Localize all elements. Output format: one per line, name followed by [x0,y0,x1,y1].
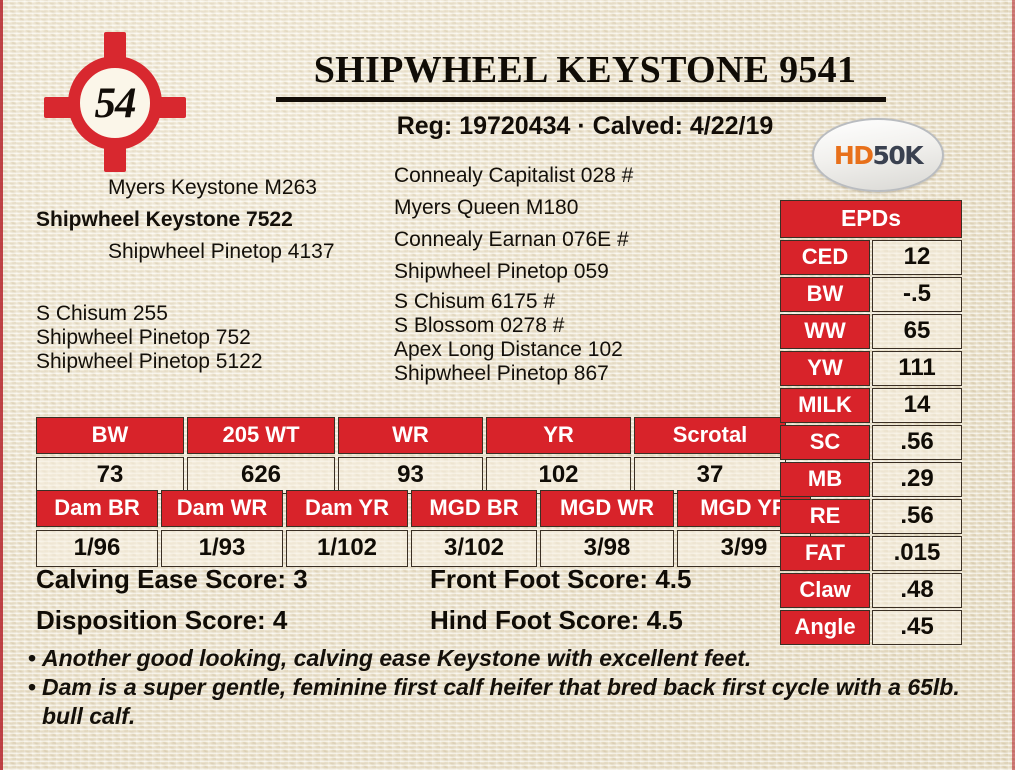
note-text: Another good looking, calving ease Keyst… [42,644,983,673]
epd-row: RE .56 [780,499,962,534]
epd-value: -.5 [872,277,962,312]
pedigree-dam-block: S Chisum 255 Shipwheel Pinetop 752 Shipw… [36,302,386,374]
pedigree-grandparent: S Blossom 0278 # [394,314,774,338]
table-header-cell: Dam BR [36,490,158,527]
table-header-cell: BW [36,417,184,454]
table-header-row: Dam BR Dam WR Dam YR MGD BR MGD WR MGD Y… [36,490,811,527]
epd-row: MILK 14 [780,388,962,423]
page-title: SHIPWHEEL KEYSTONE 9541 [255,48,915,92]
epd-row: Claw .48 [780,573,962,608]
table-header-cell: 205 WT [187,417,335,454]
table-row: 1/96 1/93 1/102 3/102 3/98 3/99 [36,530,811,567]
notes-list: • Another good looking, calving ease Key… [28,644,983,731]
epd-row: YW 111 [780,351,962,386]
epds-table: EPDs CED 12 BW -.5 WW 65 YW 111 MILK 14 … [778,198,964,647]
epd-value: .45 [872,610,962,645]
epd-row: FAT .015 [780,536,962,571]
epds-title: EPDs [780,200,962,238]
epd-label: CED [780,240,870,275]
dam-ratio-table: Dam BR Dam WR Dam YR MGD BR MGD WR MGD Y… [33,487,814,570]
table-header-cell: YR [486,417,631,454]
table-header-cell: Scrotal [634,417,786,454]
table-header-cell: Dam YR [286,490,408,527]
epd-label: YW [780,351,870,386]
bullet-icon: • [28,644,42,673]
epd-label: MILK [780,388,870,423]
pedigree-dam-sire: S Chisum 255 [36,302,386,326]
epd-value: .015 [872,536,962,571]
epd-row: Angle .45 [780,610,962,645]
epd-row: SC .56 [780,425,962,460]
epd-label: WW [780,314,870,349]
table-cell: 1/102 [286,530,408,567]
registration-calved-line: Reg: 19720434 · Calved: 4/22/19 [255,112,915,141]
title-underline [276,97,886,102]
pedigree-sire-block: Myers Keystone M263 Shipwheel Keystone 7… [36,172,386,268]
epd-value: .48 [872,573,962,608]
hd50k-hd-text: HD [834,141,873,170]
epd-row: MB .29 [780,462,962,497]
epd-label: Angle [780,610,870,645]
calving-ease-score: Calving Ease Score: 3 [36,564,308,595]
epd-label: BW [780,277,870,312]
table-header-cell: Dam WR [161,490,283,527]
pedigree-grandparent: S Chisum 6175 # [394,290,774,314]
epd-label: MB [780,462,870,497]
hd50k-50k-text: 50K [873,141,923,170]
pedigree-grandparent: Shipwheel Pinetop 867 [394,362,774,386]
table-cell: 3/98 [540,530,674,567]
epd-value: 12 [872,240,962,275]
epd-value: .56 [872,425,962,460]
epd-label: SC [780,425,870,460]
pedigree-sire-sire: Myers Keystone M263 [36,172,386,204]
table-cell: 1/93 [161,530,283,567]
table-header-cell: MGD WR [540,490,674,527]
front-foot-score: Front Foot Score: 4.5 [430,564,691,595]
table-header-row: BW 205 WT WR YR Scrotal [36,417,786,454]
pedigree-grandparent: Shipwheel Pinetop 059 [394,256,774,288]
epd-value: .29 [872,462,962,497]
epd-value: .56 [872,499,962,534]
pedigree-grandparent: Connealy Capitalist 028 # [394,160,774,192]
pedigree-sire-dam: Shipwheel Pinetop 4137 [36,236,386,268]
epd-value: 111 [872,351,962,386]
epd-row: WW 65 [780,314,962,349]
table-header-cell: MGD BR [411,490,537,527]
epd-value: 14 [872,388,962,423]
epd-row: CED 12 [780,240,962,275]
list-item: • Another good looking, calving ease Key… [28,644,983,673]
pedigree-dam-grandparents: S Chisum 6175 # S Blossom 0278 # Apex Lo… [394,290,774,386]
pedigree-grandparent: Apex Long Distance 102 [394,338,774,362]
pedigree-grandparent: Connealy Earnan 076E # [394,224,774,256]
table-cell: 1/96 [36,530,158,567]
epd-label: FAT [780,536,870,571]
lot-number-text: 54 [68,56,162,150]
bullet-icon: • [28,673,42,702]
pedigree-sire-grandparents: Connealy Capitalist 028 # Myers Queen M1… [394,160,774,288]
epd-label: Claw [780,573,870,608]
hd50k-logo: HD50K [812,118,944,192]
epd-label: RE [780,499,870,534]
note-text: Dam is a super gentle, feminine first ca… [42,673,983,731]
lot-number-badge: 54 [28,26,196,176]
table-header-cell: WR [338,417,483,454]
epds-title-row: EPDs [780,200,962,238]
hind-foot-score: Hind Foot Score: 4.5 [430,605,683,636]
disposition-score: Disposition Score: 4 [36,605,287,636]
pedigree-grandparent: Myers Queen M180 [394,192,774,224]
pedigree-dam: Shipwheel Pinetop 752 [36,326,386,350]
epd-value: 65 [872,314,962,349]
performance-table: BW 205 WT WR YR Scrotal 73 626 93 102 37 [33,414,789,497]
list-item: • Dam is a super gentle, feminine first … [28,673,983,731]
pedigree-sire: Shipwheel Keystone 7522 [36,204,386,236]
table-cell: 3/102 [411,530,537,567]
page-left-border [0,0,3,770]
epd-row: BW -.5 [780,277,962,312]
pedigree-dam-dam: Shipwheel Pinetop 5122 [36,350,386,374]
catalog-page: 54 SHIPWHEEL KEYSTONE 9541 Reg: 19720434… [0,0,1015,770]
